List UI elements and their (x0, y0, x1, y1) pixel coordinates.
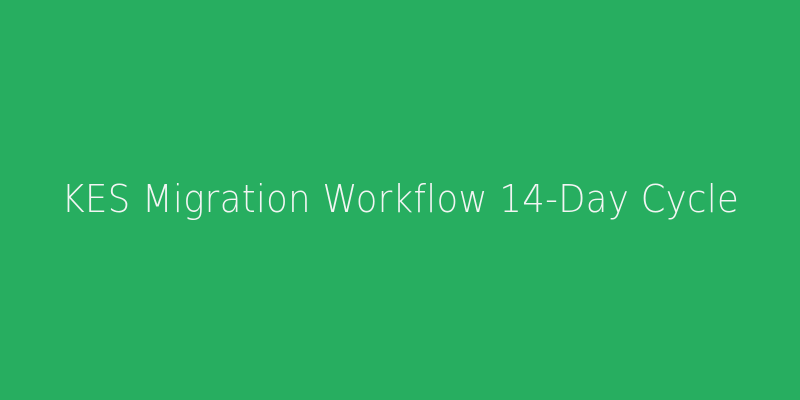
banner-canvas: KES Migration Workflow 14-Day Cycle (0, 0, 800, 400)
page-title: KES Migration Workflow 14-Day Cycle (61, 179, 739, 221)
